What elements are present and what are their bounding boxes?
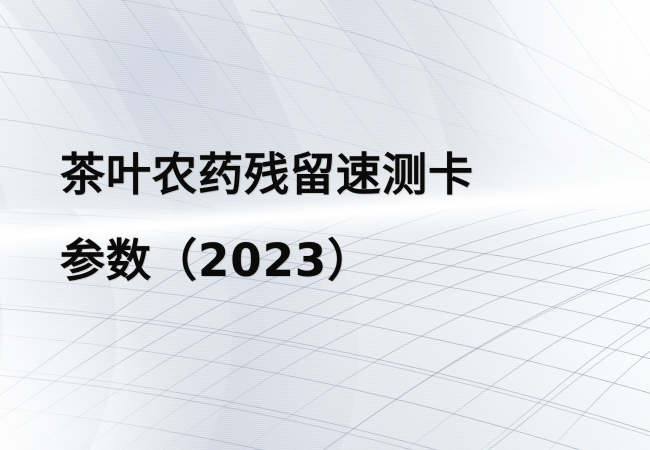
title-line-2: 参数（2023） bbox=[60, 218, 620, 304]
title-banner: 茶叶农药残留速测卡 参数（2023） bbox=[0, 0, 650, 450]
title-line-1: 茶叶农药残留速测卡 bbox=[60, 132, 620, 218]
page-title: 茶叶农药残留速测卡 参数（2023） bbox=[60, 132, 620, 304]
